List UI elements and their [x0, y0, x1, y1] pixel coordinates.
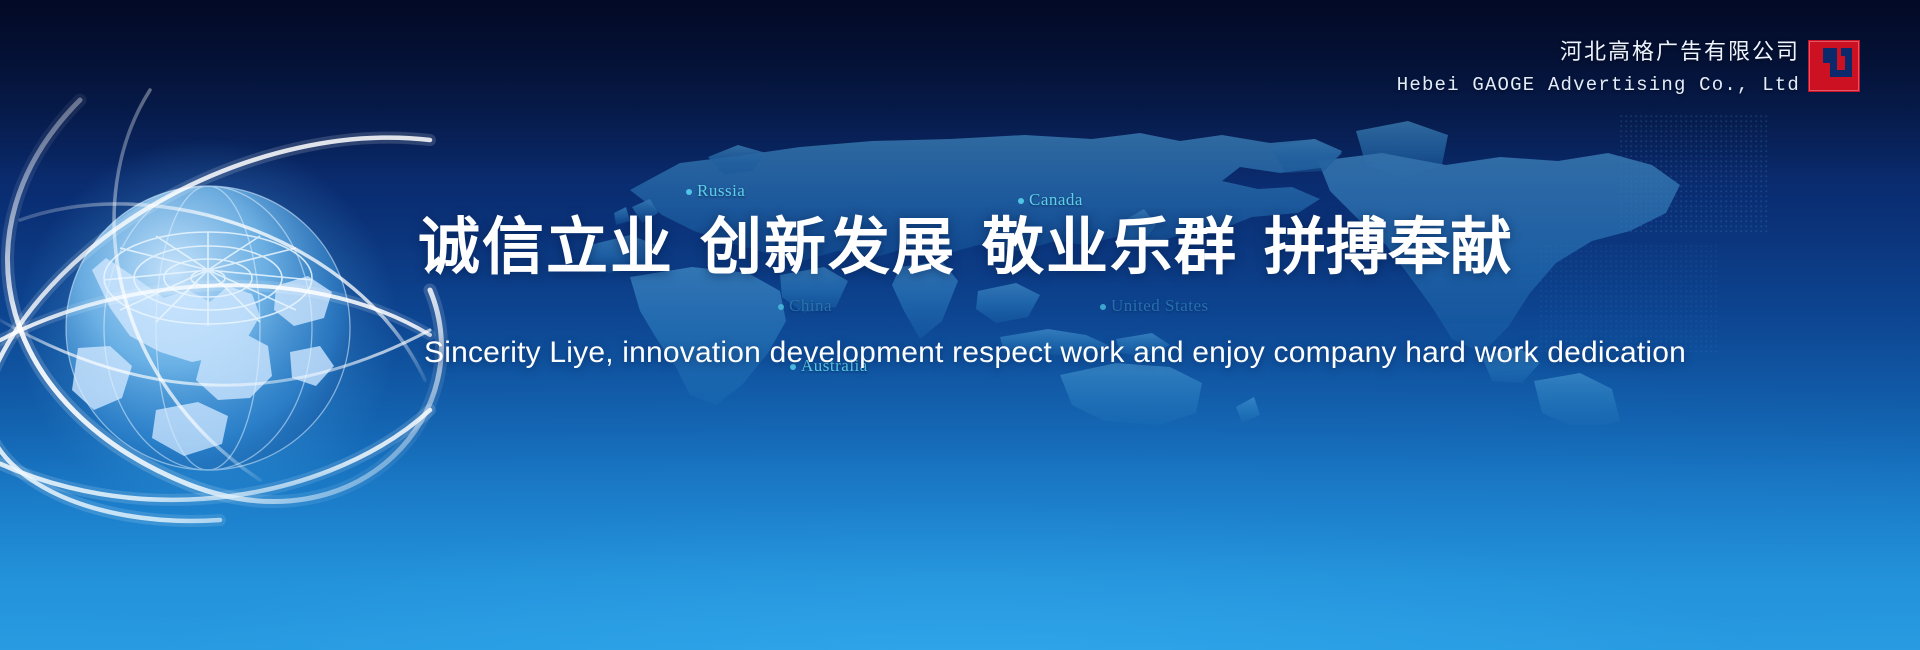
- world-map-silhouette: [480, 95, 1780, 425]
- map-label-united-states: United States: [1100, 296, 1209, 316]
- company-logo-icon: [1808, 40, 1860, 92]
- slogan-part-3: 敬业乐群: [982, 210, 1238, 283]
- slogan-part-1: 诚信立业: [418, 210, 674, 283]
- company-name-cn: 河北高格广告有限公司: [1397, 36, 1800, 68]
- top-shade-overlay: [0, 0, 1920, 180]
- slogan-headline-cn: 诚信立业创新发展敬业乐群拼搏奉献: [418, 196, 1498, 286]
- map-label-australia: Australia: [790, 356, 868, 376]
- map-label-dot-icon: [778, 304, 784, 310]
- map-label-dot-icon: [1100, 304, 1106, 310]
- map-label-canada: Canada: [1018, 190, 1083, 210]
- bottom-light-sweep: [0, 430, 1920, 650]
- company-banner: Russia Canada China United States Austra…: [0, 0, 1920, 650]
- globe-orbit-graphic: [0, 80, 430, 550]
- map-label-dot-icon: [686, 189, 692, 195]
- company-name-block: 河北高格广告有限公司 Hebei GAOGE Advertising Co., …: [1397, 36, 1800, 99]
- slogan-part-4: 拼搏奉献: [1264, 210, 1512, 283]
- company-name-en: Hebei GAOGE Advertising Co., Ltd: [1397, 72, 1800, 100]
- vignette-overlay: [0, 0, 1920, 650]
- map-label-dot-icon: [1018, 198, 1024, 204]
- map-label-russia: Russia: [686, 181, 745, 201]
- slogan-subtitle-en: Sincerity Liye, innovation development r…: [424, 336, 1686, 370]
- map-label-china: China: [778, 296, 832, 316]
- slogan-part-2: 创新发展: [700, 210, 956, 283]
- map-label-dot-icon: [790, 364, 796, 370]
